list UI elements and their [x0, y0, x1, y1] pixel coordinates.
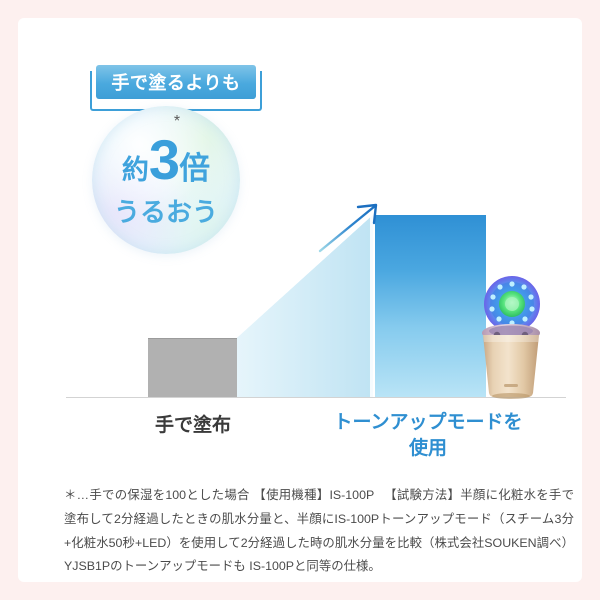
- bubble-headline: 約 3 倍 *: [122, 132, 210, 188]
- footnote-text: ＊…手での保湿を100とした場合 【使用機種】IS-100P 【試験方法】半顔に…: [64, 484, 574, 579]
- label-tone-up-line2: 使用: [308, 436, 548, 462]
- highlight-bubble: 約 3 倍 * うるおう: [92, 106, 240, 254]
- screenshot-root: 手で塗るよりも 約 3 倍 * うるおう: [0, 0, 600, 600]
- label-hand-application: 手で塗布: [128, 410, 258, 437]
- headline-badge: 手で塗るよりも: [90, 65, 262, 111]
- badge-label: 手で塗るよりも: [111, 69, 240, 95]
- badge-box: 手で塗るよりも: [96, 65, 256, 99]
- bar-hand-application: [148, 338, 237, 397]
- bubble-suffix: 倍: [179, 153, 210, 184]
- content-panel: 手で塗るよりも 約 3 倍 * うるおう: [18, 18, 582, 582]
- label-tone-up-mode: トーンアップモードを 使用: [308, 410, 548, 461]
- bubble-asterisk: *: [174, 114, 180, 130]
- bubble-subline: うるおう: [114, 192, 218, 229]
- up-right-arrow-icon: [318, 201, 380, 253]
- label-tone-up-line1: トーンアップモードを: [308, 410, 548, 436]
- bubble-prefix: 約: [122, 157, 149, 184]
- bubble-content: 約 3 倍 * うるおう: [92, 106, 240, 254]
- facial-steamer-device-icon: [466, 271, 556, 399]
- bubble-number: 3: [149, 132, 179, 188]
